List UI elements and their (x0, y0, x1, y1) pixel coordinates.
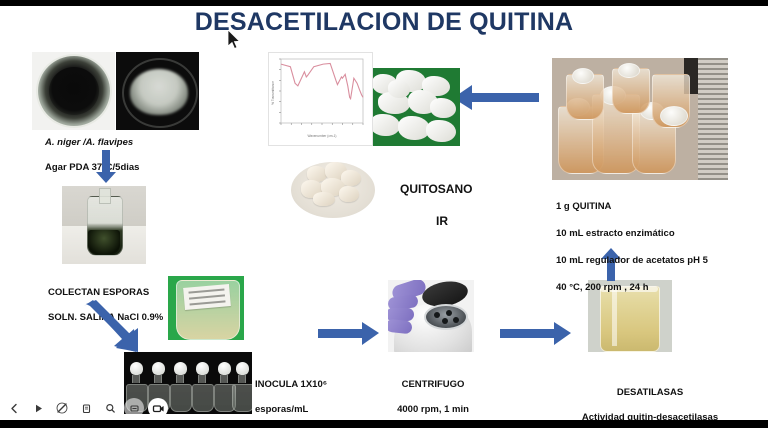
reaction-caption: 1 g QUITINA 10 mL estracto enzimático 10… (556, 186, 746, 308)
reaction-caption-line4: 40 °C, 200 rpm , 24 h (556, 281, 746, 295)
player-toolbar (0, 396, 168, 420)
culture-caption-line2: Agar PDA 37ºC/5dias (45, 162, 220, 175)
culture-caption-line1: A. niger /A. flavipes (45, 137, 220, 150)
reaction-caption-line2: 10 mL estracto enzimático (556, 227, 746, 241)
chevron-left-icon (9, 403, 20, 414)
centrifuge-caption-line1: CENTRIFUGO (383, 379, 483, 392)
chitosan-flakes-image (368, 68, 460, 146)
arrow-inoculation-to-centrifuge (318, 322, 380, 346)
culture-caption: A. niger /A. flavipes Agar PDA 37ºC/5dia… (45, 124, 220, 187)
letterbox-top (0, 0, 768, 6)
ir-xlabel: Wavenumber (cm-1) (308, 134, 337, 138)
menu-button[interactable] (124, 398, 144, 418)
slide-title: DESACETILACION DE QUITINA (0, 8, 768, 37)
presentation-slide: DESACETILACION DE QUITINA A. niger /A. f… (0, 0, 768, 428)
arrow-centrifuge-to-deacetylases (500, 322, 572, 346)
notes-button[interactable] (76, 398, 96, 418)
inoculation-caption: INOCULA 1X10⁶ esporas/mL MEDIO BASAL 1 g… (255, 366, 380, 428)
product-caption-line1: QUITOSANO (400, 181, 510, 197)
labeled-flask-image (168, 276, 244, 340)
petri-dish-aspergillus-flavipes-image (116, 52, 199, 130)
magnifier-icon (105, 403, 116, 414)
chitosan-petri-dish-image (283, 148, 383, 228)
ir-spectrum-chart-image: Wavenumber (cm-1) % Transmittance (268, 52, 373, 146)
centrifuge-caption-line2: 4000 rpm, 1 min (383, 404, 483, 417)
arrow-culture-to-spores (95, 150, 117, 184)
notes-icon (81, 403, 92, 414)
arrow-reaction-to-product (452, 85, 540, 111)
ir-ylabel: % Transmittance (271, 81, 275, 105)
deacetylases-caption-line1: DESATILASAS (570, 387, 730, 400)
letterbox-bottom (0, 420, 768, 428)
video-camera-icon (152, 402, 165, 415)
product-caption: QUITOSANO IR (400, 165, 510, 245)
centrifuge-caption: CENTRIFUGO 4000 rpm, 1 min (383, 366, 483, 428)
play-icon (33, 403, 44, 414)
camera-button[interactable] (148, 398, 168, 418)
reaction-caption-line3: 10 mL regulador de acetatos pH 5 (556, 254, 746, 268)
petri-dish-aspergillus-niger-image (32, 52, 115, 130)
play-button[interactable] (28, 398, 48, 418)
menu-icon (129, 403, 140, 414)
product-caption-line2: IR (400, 213, 484, 229)
centrifuge-image (388, 280, 474, 352)
flask-spore-suspension-image (62, 186, 146, 264)
arrow-spores-to-inoculation (84, 300, 142, 356)
zoom-button[interactable] (100, 398, 120, 418)
pen-button[interactable] (52, 398, 72, 418)
shaker-incubator-flasks-image (552, 58, 728, 180)
back-button[interactable] (4, 398, 24, 418)
inoculation-caption-line2: esporas/mL (255, 404, 380, 417)
pen-icon (56, 402, 68, 414)
inoculation-caption-line1: INOCULA 1X10⁶ (255, 379, 380, 392)
reaction-caption-line1: 1 g QUITINA (556, 200, 746, 214)
